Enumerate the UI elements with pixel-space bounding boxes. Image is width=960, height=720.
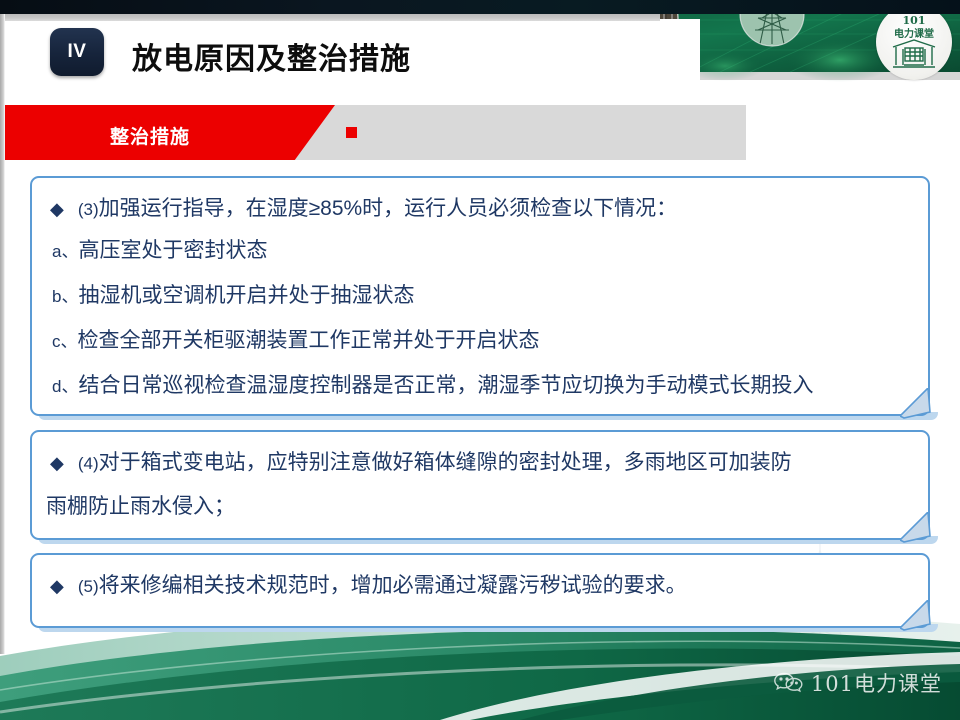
slide-root: 101 电力课堂 IV 放电原因及整治措施 整治措施	[0, 0, 960, 720]
box1-line-4-text: 检查全部开关柜驱潮装置工作正常并处于开启状态	[78, 329, 540, 352]
box1-line-5: d、结合日常巡视检查温湿度控制器是否正常，潮湿季节应切换为手动模式长期投入	[52, 375, 813, 396]
wechat-watermark-text: 101电力课堂	[811, 668, 942, 698]
diamond-bullet-icon: ◆	[50, 576, 64, 596]
box1-line-5-prefix: d、	[52, 377, 78, 396]
measure-box-4: ◆(4)对于箱式变电站，应特别注意做好箱体缝隙的密封处理，多雨地区可加装防 雨棚…	[30, 430, 930, 540]
box1-line-2-prefix: a、	[52, 242, 78, 261]
box2-line-1: ◆(4)对于箱式变电站，应特别注意做好箱体缝隙的密封处理，多雨地区可加装防	[50, 452, 792, 473]
measure-box-3: ◆(3)加强运行指导，在湿度≥85%时，运行人员必须检查以下情况： a、高压室处…	[30, 176, 930, 416]
left-edge-shadow	[0, 14, 5, 654]
logo-glyph: 101 电力课堂	[879, 7, 949, 77]
diamond-bullet-icon: ◆	[50, 453, 64, 473]
box3-line-1-text: 将来修编相关技术规范时，增加必需通过凝露污秽试验的要求。	[99, 574, 687, 597]
box2-line-1-text: 对于箱式变电站，应特别注意做好箱体缝隙的密封处理，多雨地区可加装防	[99, 451, 792, 474]
measure-box-5: ◆(5)将来修编相关技术规范时，增加必需通过凝露污秽试验的要求。	[30, 553, 930, 628]
page-title: 放电原因及整治措施	[132, 34, 411, 78]
box3-line-1-num: (5)	[78, 577, 99, 596]
box1-line-5-text: 结合日常巡视检查温湿度控制器是否正常，潮湿季节应切换为手动模式长期投入	[78, 374, 813, 397]
square-marker-icon	[346, 127, 357, 138]
box1-line-3-text: 抽湿机或空调机开启并处于抽湿状态	[78, 284, 414, 307]
diamond-bullet-icon: ◆	[50, 199, 64, 219]
box1-line-2: a、高压室处于密封状态	[52, 240, 267, 261]
svg-text:101: 101	[903, 14, 926, 27]
top-dark-strip	[0, 0, 960, 14]
section-number-label: IV	[68, 41, 87, 63]
top-gray-strip	[0, 14, 660, 21]
box2-line-2: 雨棚防止雨水侵入；	[46, 496, 235, 517]
course-logo-badge: 101 电力课堂	[876, 4, 952, 80]
wechat-icon	[773, 671, 803, 695]
box1-line-3-prefix: b、	[52, 287, 78, 306]
box1-line-4-prefix: c、	[52, 332, 78, 351]
subbanner-label: 整治措施	[110, 122, 190, 149]
box2-line-1-num: (4)	[78, 454, 99, 473]
wechat-watermark: 101电力课堂	[773, 668, 942, 698]
box1-line-1-text: 加强运行指导，在湿度≥85%时，运行人员必须检查以下情况：	[99, 197, 678, 220]
box1-line-4: c、检查全部开关柜驱潮装置工作正常并处于开启状态	[52, 330, 540, 351]
box1-line-1: ◆(3)加强运行指导，在湿度≥85%时，运行人员必须检查以下情况：	[50, 198, 677, 219]
box1-line-2-text: 高压室处于密封状态	[78, 239, 267, 262]
box1-line-3: b、抽湿机或空调机开启并处于抽湿状态	[52, 285, 414, 306]
box1-line-1-num: (3)	[78, 200, 99, 219]
box2-line-2-text: 雨棚防止雨水侵入；	[46, 495, 235, 518]
svg-text:电力课堂: 电力课堂	[894, 27, 934, 40]
section-number-badge: IV	[50, 28, 104, 76]
box3-line-1: ◆(5)将来修编相关技术规范时，增加必需通过凝露污秽试验的要求。	[50, 575, 687, 596]
